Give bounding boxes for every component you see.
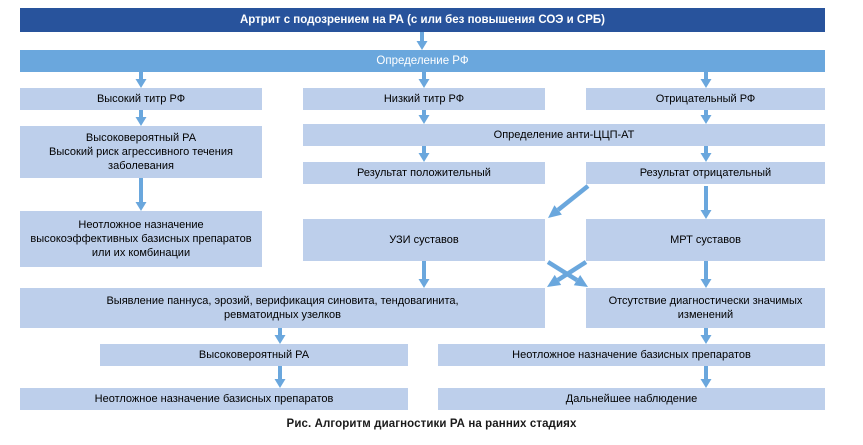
arrow-rf-to-negative bbox=[701, 72, 712, 88]
arrow-rf-to-high-titer-head bbox=[136, 79, 147, 88]
node-rf-high-titer[interactable]: Высокий титр РФ bbox=[20, 88, 262, 110]
arrow-ccp-to-negative-result bbox=[701, 146, 712, 162]
arrow-high-titer-to-probability bbox=[136, 110, 147, 126]
arrow-rf-to-negative-shaft bbox=[704, 72, 708, 79]
node-urgent-dmards-right[interactable]: Неотложное назначение базисных препарато… bbox=[438, 344, 825, 366]
node-joint-mri[interactable]: МРТ суставов bbox=[586, 219, 825, 261]
arrow-ultrasound-to-no-changes-head bbox=[574, 275, 588, 287]
arrow-negresult-to-ultrasound-shaft bbox=[558, 186, 588, 210]
figure-caption: Рис. Алгоритм диагностики РА на ранних с… bbox=[0, 418, 863, 430]
arrow-rf-to-low-titer-shaft bbox=[422, 72, 426, 79]
arrow-low-titer-to-ccp-shaft bbox=[422, 110, 426, 115]
arrow-pannus-to-probability2-head bbox=[275, 335, 286, 344]
arrow-mri-to-no-changes bbox=[701, 261, 712, 288]
node-urgent-high-eff-dmards[interactable]: Неотложное назначение высокоэффективных … bbox=[20, 211, 262, 267]
arrow-probability-to-urgent-head bbox=[136, 202, 147, 211]
node-joint-ultrasound[interactable]: УЗИ суставов bbox=[303, 219, 545, 261]
arrow-rf-to-high-titer-shaft bbox=[139, 72, 143, 79]
arrow-urgentright-to-observation-head bbox=[701, 379, 712, 388]
node-anti-ccp-test[interactable]: Определение анти-ЦЦП-АТ bbox=[303, 124, 825, 146]
arrow-negresult-to-ultrasound-head bbox=[548, 205, 562, 218]
node-no-significant-changes[interactable]: Отсутствие диагностически значимых измен… bbox=[586, 288, 825, 328]
arrow-negative-to-ccp-shaft bbox=[704, 110, 708, 115]
arrow-pannus-to-probability2-shaft bbox=[278, 328, 282, 335]
arrow-suspected-to-rf bbox=[417, 32, 428, 50]
flowchart-canvas: Артрит с подозрением на РА (с или без по… bbox=[0, 0, 863, 445]
node-result-negative[interactable]: Результат отрицательный bbox=[586, 162, 825, 184]
arrow-nochanges-to-urgent-right bbox=[701, 328, 712, 344]
arrow-ccp-to-negative-result-head bbox=[701, 153, 712, 162]
arrow-ultrasound-to-no-changes bbox=[548, 262, 588, 287]
arrow-mri-to-no-changes-shaft bbox=[704, 261, 708, 279]
node-suspected-ra[interactable]: Артрит с подозрением на РА (с или без по… bbox=[20, 8, 825, 32]
arrow-low-titer-to-ccp-head bbox=[419, 115, 430, 124]
node-further-observation[interactable]: Дальнейшее наблюдение bbox=[438, 388, 825, 410]
arrow-negresult-to-mri bbox=[701, 186, 712, 219]
arrow-mri-to-no-changes-head bbox=[701, 279, 712, 288]
arrow-rf-to-low-titer-head bbox=[419, 79, 430, 88]
arrow-negresult-to-ultrasound bbox=[548, 186, 588, 218]
arrow-negresult-to-mri-shaft bbox=[704, 186, 708, 210]
arrow-pannus-to-probability2 bbox=[275, 328, 286, 344]
arrow-probability-to-urgent bbox=[136, 178, 147, 211]
arrow-probability2-to-urgent-left bbox=[275, 366, 286, 388]
node-high-probability-ra[interactable]: Высоковероятный РА Высокий риск агрессив… bbox=[20, 126, 262, 178]
arrow-high-titer-to-probability-head bbox=[136, 117, 147, 126]
node-high-probability-ra-2[interactable]: Высоковероятный РА bbox=[100, 344, 408, 366]
arrow-ultrasound-to-pannus-head bbox=[419, 279, 430, 288]
arrow-suspected-to-rf-head bbox=[417, 41, 428, 50]
arrow-rf-to-low-titer bbox=[419, 72, 430, 88]
arrow-urgentright-to-observation-shaft bbox=[704, 366, 708, 379]
arrow-negresult-to-mri-head bbox=[701, 210, 712, 219]
arrow-urgentright-to-observation bbox=[701, 366, 712, 388]
node-rf-negative[interactable]: Отрицательный РФ bbox=[586, 88, 825, 110]
arrow-ultrasound-to-pannus-shaft bbox=[422, 261, 426, 279]
arrow-mri-to-pannus bbox=[547, 262, 586, 287]
arrow-negative-to-ccp-head bbox=[701, 115, 712, 124]
arrow-negative-to-ccp bbox=[701, 110, 712, 124]
arrow-mri-to-pannus-shaft bbox=[558, 262, 586, 280]
arrow-high-titer-to-probability-shaft bbox=[139, 110, 143, 117]
node-pannus-erosions-found[interactable]: Выявление паннуса, эрозий, верификация с… bbox=[20, 288, 545, 328]
arrow-ccp-to-positive bbox=[419, 146, 430, 162]
arrow-mri-to-pannus-head bbox=[547, 275, 561, 287]
node-result-positive[interactable]: Результат положительный bbox=[303, 162, 545, 184]
node-rf-low-titer[interactable]: Низкий титр РФ bbox=[303, 88, 545, 110]
arrow-ccp-to-positive-head bbox=[419, 153, 430, 162]
arrow-nochanges-to-urgent-right-shaft bbox=[704, 328, 708, 335]
arrow-probability-to-urgent-shaft bbox=[139, 178, 143, 202]
arrow-probability2-to-urgent-left-head bbox=[275, 379, 286, 388]
node-rf-determination[interactable]: Определение РФ bbox=[20, 50, 825, 72]
node-urgent-dmards-left[interactable]: Неотложное назначение базисных препарато… bbox=[20, 388, 408, 410]
arrow-ccp-to-negative-result-shaft bbox=[704, 146, 708, 153]
arrow-ultrasound-to-pannus bbox=[419, 261, 430, 288]
arrow-ultrasound-to-no-changes-shaft bbox=[548, 262, 577, 280]
arrow-rf-to-negative-head bbox=[701, 79, 712, 88]
arrow-probability2-to-urgent-left-shaft bbox=[278, 366, 282, 379]
arrow-ccp-to-positive-shaft bbox=[422, 146, 426, 153]
arrow-low-titer-to-ccp bbox=[419, 110, 430, 124]
arrow-suspected-to-rf-shaft bbox=[420, 32, 424, 41]
arrow-nochanges-to-urgent-right-head bbox=[701, 335, 712, 344]
arrow-rf-to-high-titer bbox=[136, 72, 147, 88]
